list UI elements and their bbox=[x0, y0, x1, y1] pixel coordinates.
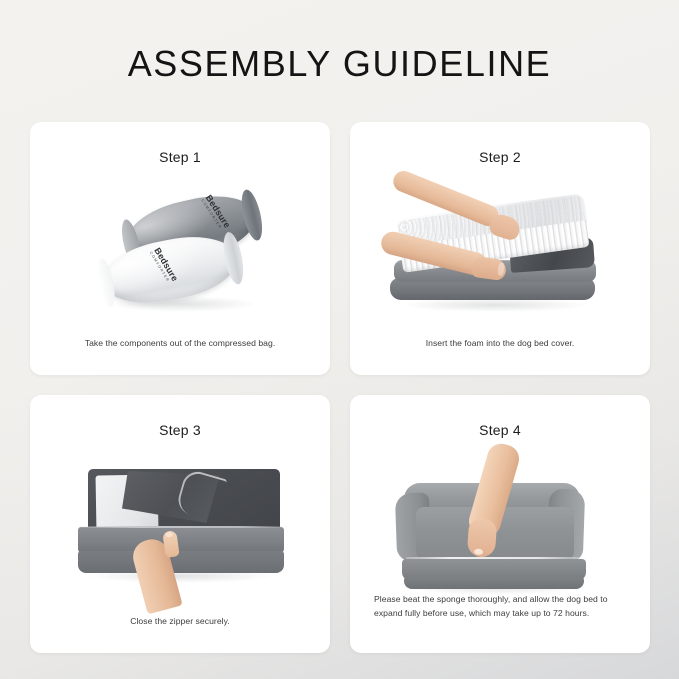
step-3-illustration bbox=[30, 447, 330, 602]
step-card-1: Step 1 Bedsure COMFORTER Bedsure COMFORT… bbox=[30, 122, 330, 375]
finished-bed-graphic bbox=[350, 447, 650, 602]
step-1-caption: Take the components out of the compresse… bbox=[50, 337, 310, 351]
steps-grid: Step 1 Bedsure COMFORTER Bedsure COMFORT… bbox=[30, 122, 650, 653]
step-4-heading: Step 4 bbox=[350, 395, 650, 438]
step-3-caption: Close the zipper securely. bbox=[50, 615, 310, 629]
foam-insert-graphic bbox=[350, 174, 650, 329]
cover-lower-panel bbox=[78, 551, 284, 573]
page-title: ASSEMBLY GUIDELINE bbox=[0, 0, 679, 84]
bed-shadow bbox=[400, 298, 590, 312]
step-card-2: Step 2 Insert the foam into the do bbox=[350, 122, 650, 375]
step-card-3: Step 3 Close the zipper securely. bbox=[30, 395, 330, 653]
step-1-heading: Step 1 bbox=[30, 122, 330, 165]
step-4-illustration bbox=[350, 447, 650, 602]
step-card-4: Step 4 Please beat the sponge thoroughly… bbox=[350, 395, 650, 653]
step-2-heading: Step 2 bbox=[350, 122, 650, 165]
compressed-rolls-graphic: Bedsure COMFORTER Bedsure COMFORTER bbox=[30, 174, 330, 329]
cover-side-panel bbox=[78, 527, 284, 553]
step-3-heading: Step 3 bbox=[30, 395, 330, 438]
step-2-caption: Insert the foam into the dog bed cover. bbox=[370, 337, 630, 351]
zipper-close-graphic bbox=[30, 447, 330, 602]
step-1-illustration: Bedsure COMFORTER Bedsure COMFORTER bbox=[30, 174, 330, 329]
step-2-illustration bbox=[350, 174, 650, 329]
bed-base-lower bbox=[404, 577, 584, 589]
step-4-caption: Please beat the sponge thoroughly, and a… bbox=[374, 593, 636, 621]
brand-label-gray: Bedsure COMFORTER bbox=[200, 194, 232, 233]
zipper-line bbox=[80, 526, 282, 528]
brand-label-white: Bedsure COMFORTER bbox=[148, 246, 179, 285]
